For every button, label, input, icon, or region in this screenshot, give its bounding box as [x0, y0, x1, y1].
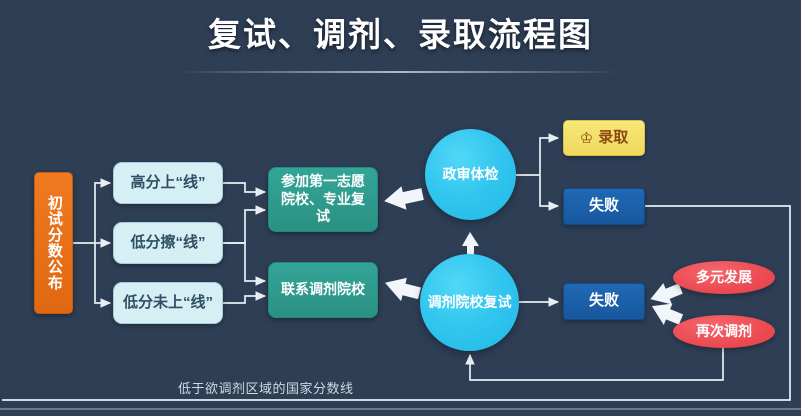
start-node[interactable]: 初试分数公布	[34, 172, 73, 314]
flowchart-canvas: 复试、调剂、录取流程图	[0, 0, 801, 416]
footnote-text: 低于欲调剂区域的国家分数线	[178, 378, 354, 397]
result-admitted[interactable]: ♔ 录取	[563, 120, 645, 156]
title-divider	[178, 71, 620, 73]
connector-layer	[0, 0, 801, 416]
score-tier-high[interactable]: 高分上“线”	[113, 162, 223, 204]
bottom-divider	[0, 408, 801, 410]
stage-transfer-school-retest[interactable]: 调剂院校复试	[420, 254, 519, 351]
score-tier-borderline[interactable]: 低分擦“线”	[113, 222, 223, 264]
score-tier-below[interactable]: 低分未上“线”	[113, 282, 223, 324]
result-fail-review[interactable]: 失败	[563, 188, 645, 225]
path-first-choice-retest[interactable]: 参加第一志愿院校、专业复试	[268, 167, 378, 232]
result-fail-transfer[interactable]: 失败	[563, 283, 645, 320]
page-title: 复试、调剂、录取流程图	[0, 8, 801, 56]
crown-icon: ♔	[580, 131, 593, 146]
path-contact-transfer-schools[interactable]: 联系调剂院校	[268, 262, 378, 318]
outcome-transfer-again[interactable]: 再次调剂	[673, 315, 775, 348]
result-admitted-label: 录取	[598, 129, 628, 148]
outcome-diverse-development[interactable]: 多元发展	[673, 261, 775, 294]
stage-political-review-physical[interactable]: 政审体检	[425, 129, 516, 220]
